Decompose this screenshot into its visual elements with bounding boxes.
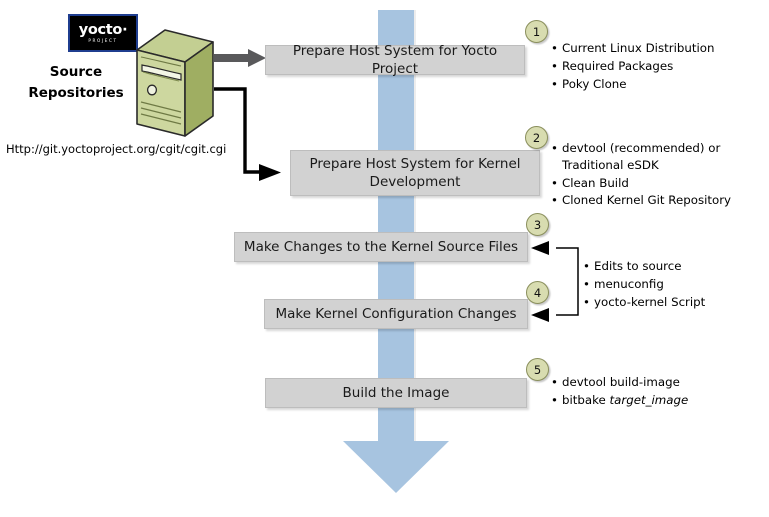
step-4-number-badge: 4: [526, 281, 549, 304]
yocto-logo-wordmark: yocto·: [79, 23, 128, 38]
list-item: Required Packages: [550, 58, 762, 75]
server-tower-icon: [133, 28, 217, 138]
step-4-box-label: Make Kernel Configuration Changes: [275, 305, 516, 323]
list-item: devtool (recommended) or Traditional eSD…: [550, 140, 762, 174]
step-3-number-badge: 3: [526, 213, 549, 236]
source-repositories-url: Http://git.yoctoproject.org/cgit/cgit.cg…: [6, 142, 226, 156]
flow-arrow-head: [343, 441, 449, 493]
step-4-number: 4: [534, 286, 541, 300]
step-2-box-label: Prepare Host System for Kernel Developme…: [299, 155, 531, 191]
step-2-bullet-list: devtool (recommended) or Traditional eSD…: [550, 140, 762, 210]
step-5-number-badge: 5: [526, 358, 549, 381]
step-1-bullet-list: Current Linux Distribution Required Pack…: [550, 40, 762, 93]
arrow-server-to-step1: [214, 49, 266, 67]
step-5-box[interactable]: Build the Image: [265, 378, 527, 408]
yocto-project-logo: yocto· PROJECT: [68, 14, 138, 52]
step-5-number: 5: [534, 363, 541, 377]
list-item: Current Linux Distribution: [550, 40, 762, 57]
step-5-box-label: Build the Image: [343, 384, 450, 402]
yocto-logo-subtext: PROJECT: [88, 39, 117, 43]
step-4-box[interactable]: Make Kernel Configuration Changes: [264, 299, 528, 329]
list-item: Clean Build: [550, 175, 762, 192]
yocto-logo-dot: ·: [122, 22, 127, 38]
bitbake-command: bitbake: [562, 393, 610, 407]
step-2-number: 2: [533, 131, 540, 145]
source-repositories-label: Source Repositories: [12, 62, 140, 104]
yocto-logo-text: yocto: [79, 22, 122, 38]
diagram-canvas: yocto· PROJECT Source Repositories Http:…: [0, 0, 769, 517]
source-repositories-label-line1: Source: [12, 62, 140, 83]
step-2-box[interactable]: Prepare Host System for Kernel Developme…: [290, 150, 540, 196]
step-3-box-label: Make Changes to the Kernel Source Files: [244, 238, 518, 256]
list-item: devtool build-image: [550, 374, 762, 391]
step-3-box[interactable]: Make Changes to the Kernel Source Files: [234, 232, 528, 262]
list-item: bitbake target_image: [550, 392, 762, 409]
list-item: Poky Clone: [550, 76, 762, 93]
list-item: menuconfig: [582, 276, 762, 293]
step-1-box[interactable]: Prepare Host System for Yocto Project: [265, 45, 525, 75]
step-3-number: 3: [534, 218, 541, 232]
list-item: Cloned Kernel Git Repository: [550, 192, 762, 209]
list-item: yocto-kernel Script: [582, 294, 762, 311]
arrow-server-to-step2: [214, 89, 281, 181]
step-1-number: 1: [533, 25, 540, 39]
step-2-number-badge: 2: [525, 126, 548, 149]
list-item: Edits to source: [582, 258, 762, 275]
step-1-box-label: Prepare Host System for Yocto Project: [274, 42, 516, 78]
bitbake-target-italic: target_image: [610, 393, 689, 407]
step-3-4-bullet-list: Edits to source menuconfig yocto-kernel …: [582, 258, 762, 311]
source-repositories-label-line2: Repositories: [12, 83, 140, 104]
step-1-number-badge: 1: [525, 20, 548, 43]
step-5-bullet-list: devtool build-image bitbake target_image: [550, 374, 762, 410]
